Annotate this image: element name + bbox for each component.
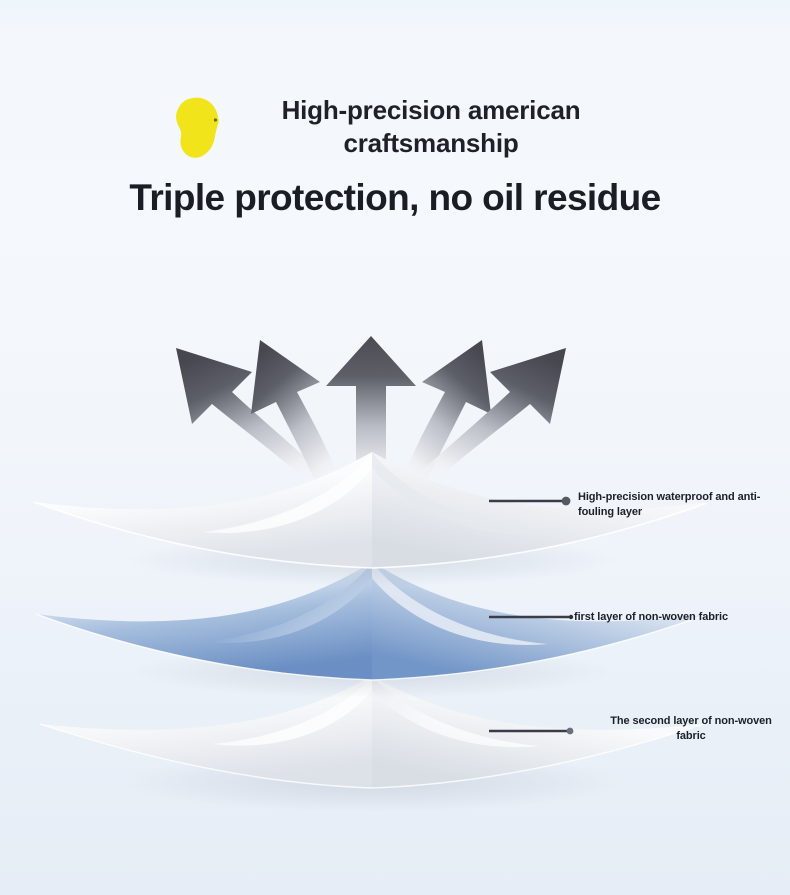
page-title: Triple protection, no oil residue (0, 177, 790, 219)
eyebrow-text: High-precision american craftsmanship (241, 94, 621, 161)
arrow-left (251, 340, 342, 496)
callout-label-waterproof-layer: High-precision waterproof and anti-fouli… (578, 490, 784, 519)
arrow-right (400, 340, 491, 496)
poster-header: High-precision american craftsmanship Tr… (0, 0, 790, 250)
callout-label-second-nonwoven: The second layer of non-woven fabric (606, 714, 776, 743)
eyebrow-row: High-precision american craftsmanship (0, 92, 790, 161)
poster-root: High-precision american craftsmanship Tr… (0, 0, 790, 895)
yellow-paint-blob-icon (169, 96, 225, 160)
callout-label-first-nonwoven: first layer of non-woven fabric (574, 610, 786, 625)
